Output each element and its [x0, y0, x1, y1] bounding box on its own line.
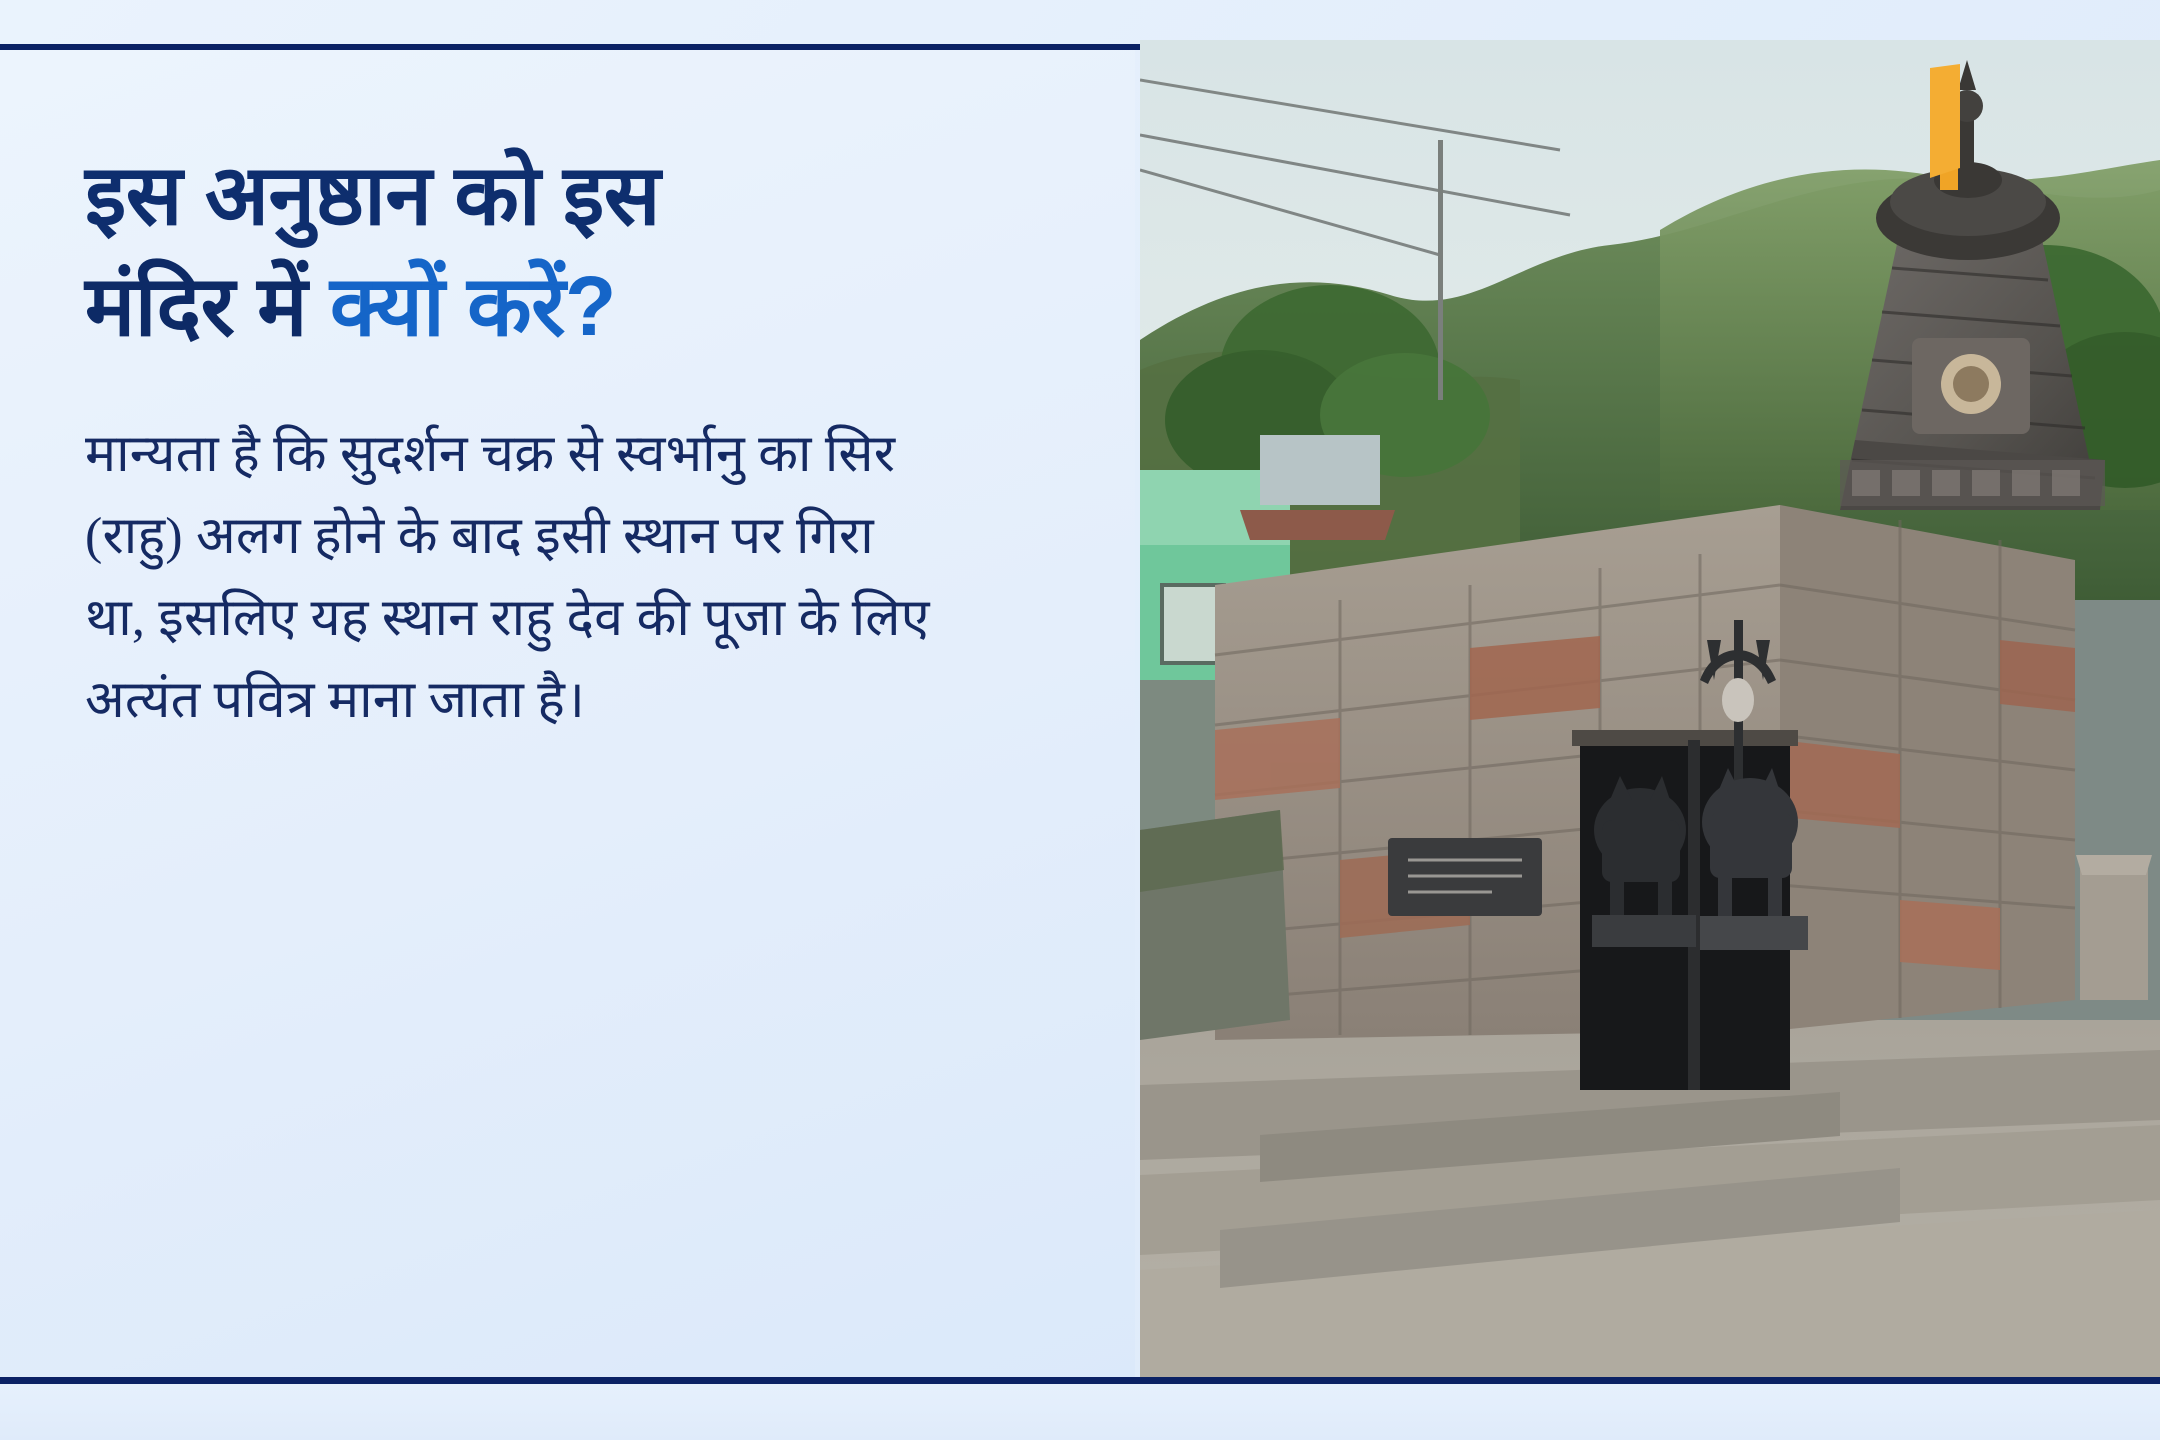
- bottom-accent-band: [0, 1384, 2160, 1440]
- temple-photo: [1140, 40, 2160, 1380]
- text-column: इस अनुष्ठान को इस मंदिर में क्यों करें? …: [0, 50, 1135, 1387]
- page-title: इस अनुष्ठान को इस मंदिर में क्यों करें?: [85, 140, 1045, 362]
- body-paragraph: मान्यता है कि सुदर्शन चक्र से स्वर्भानु …: [85, 414, 945, 743]
- heading-line-1: इस अनुष्ठान को इस: [85, 140, 1045, 251]
- heading-line-2-accent: क्यों करें?: [330, 259, 616, 353]
- temple-photo-illustration: [1140, 40, 2160, 1380]
- heading-line-2: मंदिर में क्यों करें?: [85, 251, 1045, 362]
- slide-root: इस अनुष्ठान को इस मंदिर में क्यों करें? …: [0, 0, 2160, 1440]
- bottom-divider-rule: [0, 1377, 2160, 1384]
- heading-line-2-dark: मंदिर में: [85, 259, 330, 353]
